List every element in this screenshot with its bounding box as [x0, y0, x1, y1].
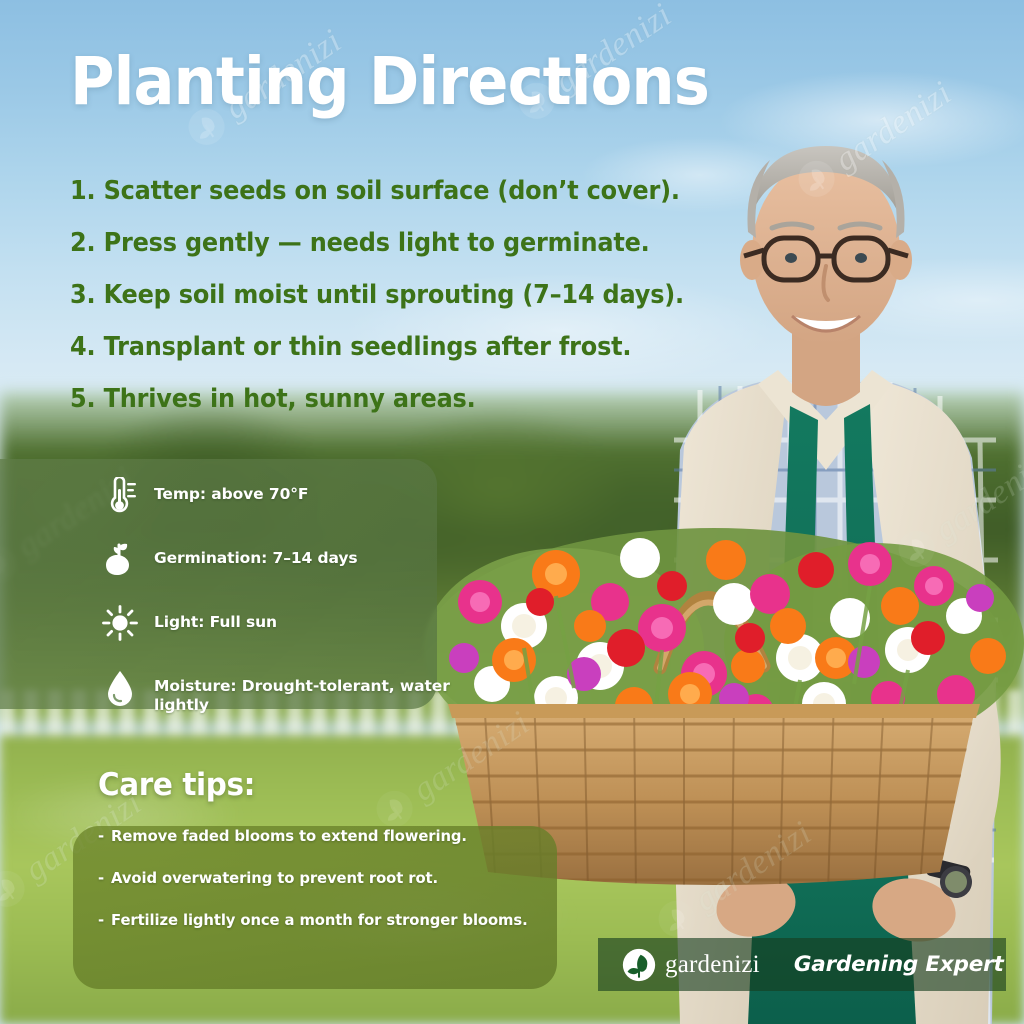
- brand-name: gardenizi: [665, 951, 760, 979]
- list-item: Moisture: Drought-tolerant, water lightl…: [100, 667, 460, 715]
- bullet-dash: -: [98, 828, 104, 847]
- sun-icon: [100, 603, 140, 641]
- list-item: 5. Thrives in hot, sunny areas.: [70, 384, 709, 414]
- water-drop-icon: [100, 667, 140, 707]
- brand-role: Gardening Expert: [794, 952, 1004, 977]
- growing-condition-text: Moisture: Drought-tolerant, water lightl…: [154, 667, 460, 715]
- bullet-dash: -: [98, 870, 104, 889]
- infographic-canvas: gardenizi gardenizi gardenizi: [0, 0, 1024, 1024]
- care-tips-heading: Care tips:: [98, 767, 255, 803]
- list-item: Germination: 7–14 days: [100, 539, 460, 583]
- growing-condition-text: Light: Full sun: [154, 603, 277, 632]
- planting-steps-list: 1. Scatter seeds on soil surface (don’t …: [70, 176, 750, 436]
- care-tip-text: Remove faded blooms to extend flowering.: [111, 828, 467, 847]
- page-title: Planting Directions: [70, 49, 709, 115]
- list-item: Temp: above 70°F: [100, 475, 460, 519]
- growing-condition-text: Temp: above 70°F: [154, 475, 308, 504]
- list-item: 1. Scatter seeds on soil surface (don’t …: [70, 176, 709, 206]
- list-item: - Remove faded blooms to extend flowerin…: [98, 828, 548, 847]
- growing-condition-text: Germination: 7–14 days: [154, 539, 358, 568]
- thermometer-icon: [100, 475, 140, 515]
- bullet-dash: -: [98, 912, 104, 931]
- growing-conditions-rows: Temp: above 70°F Germination: 7–14 days: [100, 475, 460, 735]
- gardenizi-leaf-logo-icon: [622, 948, 656, 982]
- care-tips-list: - Remove faded blooms to extend flowerin…: [98, 828, 548, 954]
- list-item: - Avoid overwatering to prevent root rot…: [98, 870, 548, 889]
- brand-badge: gardenizi Gardening Expert: [598, 938, 1006, 991]
- list-item: 2. Press gently — needs light to germina…: [70, 228, 709, 258]
- list-item: - Fertilize lightly once a month for str…: [98, 912, 548, 931]
- list-item: 4. Transplant or thin seedlings after fr…: [70, 332, 709, 362]
- care-tip-text: Fertilize lightly once a month for stron…: [111, 912, 528, 931]
- list-item: Light: Full sun: [100, 603, 460, 647]
- care-tip-text: Avoid overwatering to prevent root rot.: [111, 870, 438, 889]
- sprout-seed-icon: [100, 539, 140, 579]
- list-item: 3. Keep soil moist until sprouting (7–14…: [70, 280, 709, 310]
